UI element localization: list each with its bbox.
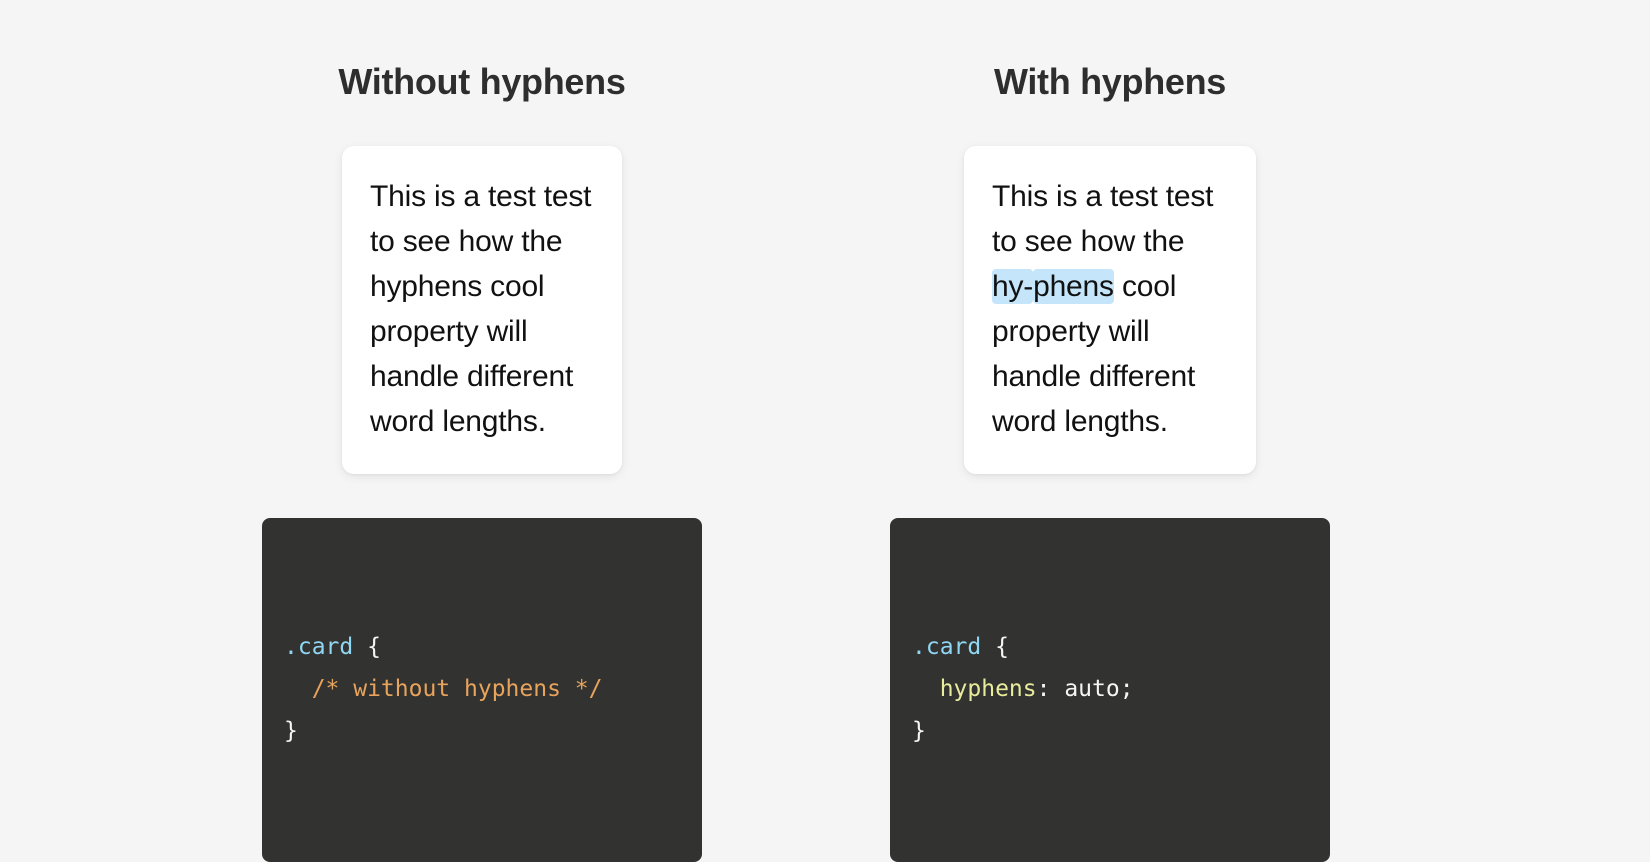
heading-with-hyphens: With hyphens xyxy=(994,62,1226,102)
column-with-hyphens: With hyphens This is a test test to see … xyxy=(890,62,1330,862)
card-text-without-hyphens: This is a test test to see how the hyphe… xyxy=(370,174,594,444)
heading-without-hyphens: Without hyphens xyxy=(338,62,625,102)
card-text-prefix: This is a test test to see how the xyxy=(992,180,1213,258)
css-open-brace-token: { xyxy=(353,634,381,660)
demo-card-with-hyphens: This is a test test to see how the hy-ph… xyxy=(964,146,1256,474)
highlighted-word-part-2: phens xyxy=(1033,269,1114,304)
css-selector-token: .card xyxy=(284,634,353,660)
column-without-hyphens: Without hyphens This is a test test to s… xyxy=(262,62,702,862)
highlighted-word-part-1: hy- xyxy=(992,269,1033,304)
css-value-token: auto; xyxy=(1064,676,1133,702)
css-comment-token: /* without hyphens */ xyxy=(312,676,603,702)
css-close-brace-token: } xyxy=(912,718,926,744)
css-property-token: hyphens xyxy=(940,676,1037,702)
css-selector-token: .card xyxy=(912,634,981,660)
css-separator-token: : xyxy=(1037,676,1065,702)
css-open-brace-token: { xyxy=(981,634,1009,660)
code-block-without-hyphens: .card {/* without hyphens */} xyxy=(262,518,702,862)
code-block-with-hyphens: .card {hyphens: auto;} xyxy=(890,518,1330,862)
code-line-body: /* without hyphens */ xyxy=(284,668,680,710)
code-line-body: hyphens: auto; xyxy=(912,668,1308,710)
css-close-brace-token: } xyxy=(284,718,298,744)
code-line-close: } xyxy=(284,710,680,752)
card-text-with-hyphens: This is a test test to see how the hy-ph… xyxy=(992,174,1228,444)
code-line-close: } xyxy=(912,710,1308,752)
demo-card-without-hyphens: This is a test test to see how the hyphe… xyxy=(342,146,622,474)
comparison-columns: Without hyphens This is a test test to s… xyxy=(0,0,1650,862)
code-line-selector: .card { xyxy=(912,626,1308,668)
page-root: Without hyphens This is a test test to s… xyxy=(0,0,1650,741)
code-line-selector: .card { xyxy=(284,626,680,668)
